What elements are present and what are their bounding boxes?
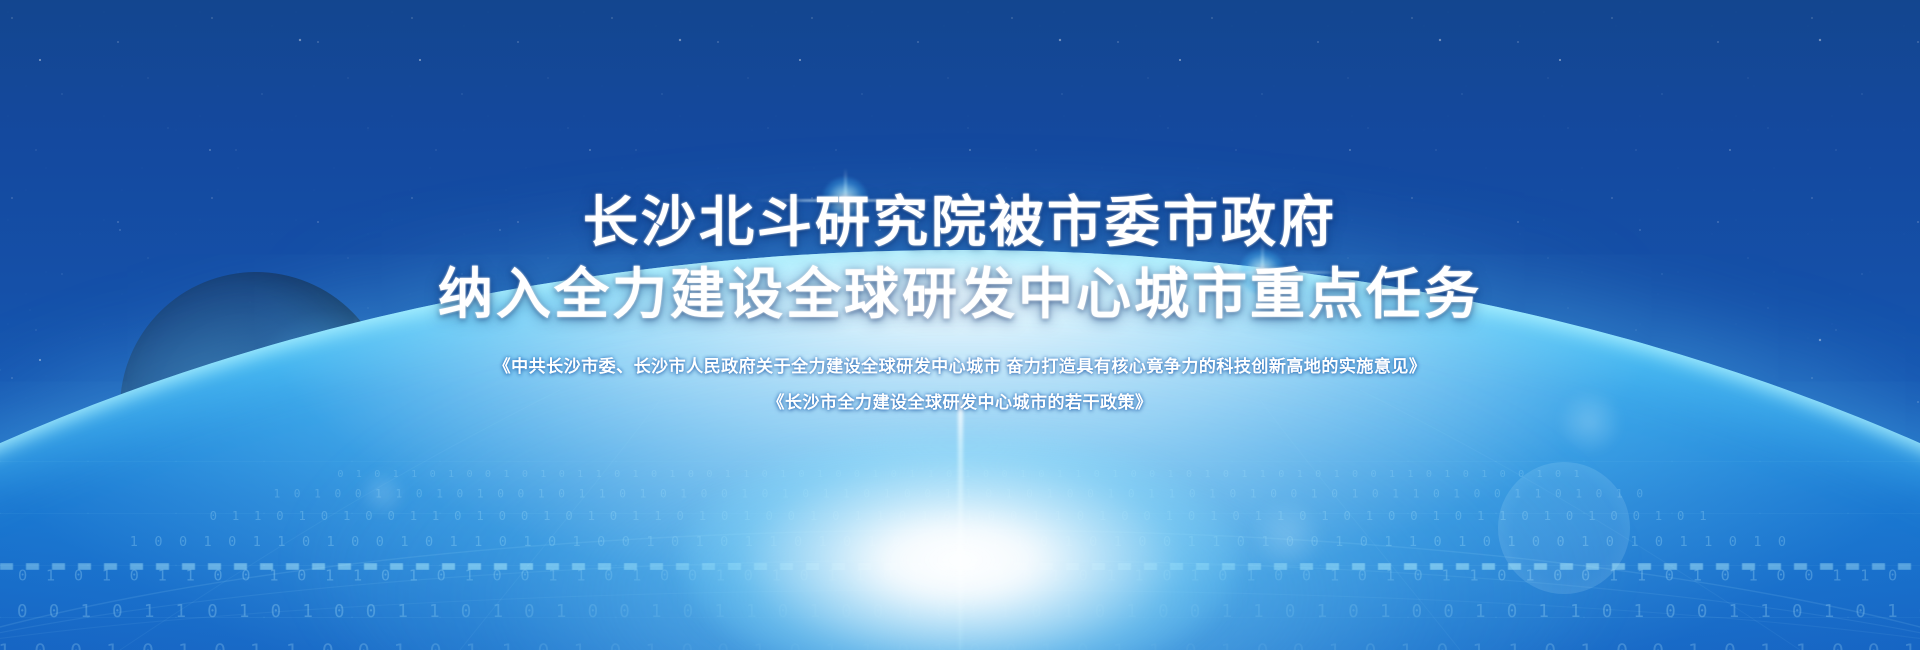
- banner-subtitle-line-2: 《长沙市全力建设全球研发中心城市的若干政策》: [768, 388, 1153, 418]
- banner-title-line-2: 纳入全力建设全球研发中心城市重点任务: [438, 258, 1482, 330]
- banner-title-line-1: 长沙北斗研究院被市委市政府: [583, 186, 1337, 258]
- banner-subtitle-line-1: 《中共长沙市委、长沙市人民政府关于全力建设全球研发中心城市 奋力打造具有核心竟争…: [494, 352, 1427, 382]
- banner-content: 长沙北斗研究院被市委市政府 纳入全力建设全球研发中心城市重点任务 《中共长沙市委…: [0, 0, 1920, 650]
- hero-banner: 0 1 0 1 1 0 1 0 0 1 0 1 0 1 1 0 1 0 1 0 …: [0, 0, 1920, 650]
